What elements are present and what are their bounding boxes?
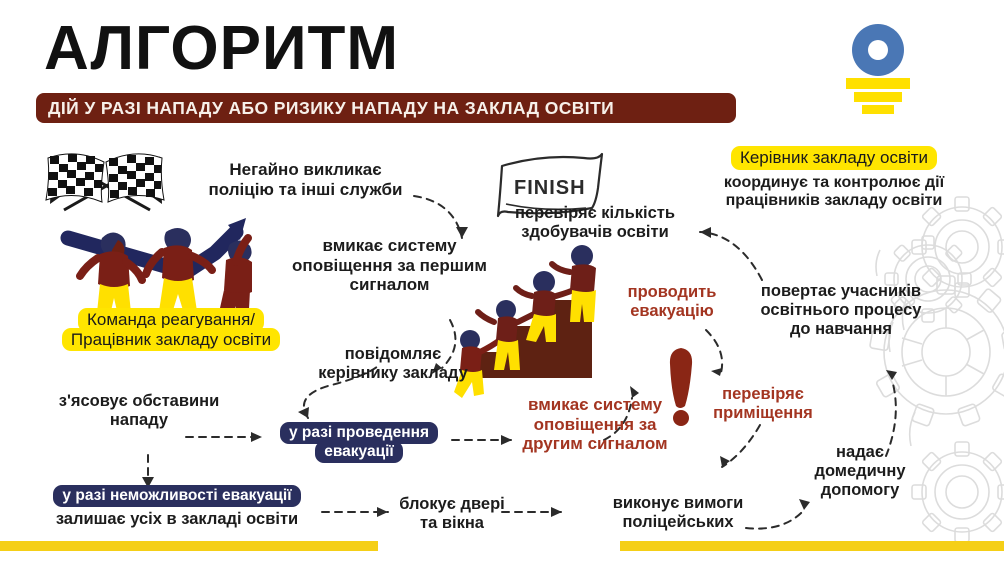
head-desc-line1: координує та контролює дії <box>698 174 970 193</box>
step-first-signal: вмикає систему оповіщення за першим сигн… <box>282 236 497 295</box>
step-call-police: Негайно викликає поліцію та інші служби <box>198 160 413 199</box>
evacuation-case-line2: евакуації <box>315 441 403 463</box>
step-return-participants: повертає учасників освітнього процесу до… <box>748 282 934 339</box>
step-check-premises: перевіряє приміщення <box>705 385 821 423</box>
lightbulb-logo <box>838 24 918 104</box>
actor-head-label: Керівник закладу освіти координує та кон… <box>698 146 970 211</box>
step-inform-head: повідомляє керівнику закладу <box>308 345 478 383</box>
head-desc-line2: працівників закладу освіти <box>698 192 970 211</box>
step-block-doors: блокує двері та вікна <box>392 495 512 533</box>
step-first-aid: надає домедичну допомогу <box>798 443 922 500</box>
page-title: АЛГОРИТМ <box>44 18 399 80</box>
step-evacuation-case: у разі проведення евакуації <box>264 422 454 463</box>
svg-text:FINISH: FINISH <box>514 177 586 199</box>
infographic-canvas: АЛГОРИТМ ДІЙ У РАЗІ НАПАДУ АБО РИЗИКУ НА… <box>0 0 1004 565</box>
step-police-demands: виконує вимоги поліцейських <box>596 494 760 532</box>
step-conduct-evacuation: проводить евакуацію <box>620 283 724 321</box>
step-check-count: перевіряє кількість здобувачів освіти <box>492 204 698 242</box>
step-no-evacuation-case: у разі неможливості евакуації залишає ус… <box>22 485 332 529</box>
step-second-signal: вмикає систему оповіщення за другим сигн… <box>510 395 680 454</box>
arrow-check-premises-to-demands <box>722 425 760 467</box>
logo-bar-1 <box>846 78 910 89</box>
step-clarify-circumstances: з'ясовує обставини нападу <box>44 392 234 430</box>
logo-ring-hole <box>868 40 888 60</box>
bottom-bar-right <box>620 541 1004 551</box>
checkered-flags-icon <box>46 154 164 210</box>
arrowheads <box>142 227 897 517</box>
arrow-police-to-first-signal <box>414 196 462 238</box>
team-label-line2: Працівник закладу освіти <box>62 328 280 352</box>
actor-team-label: Команда реагування/ Працівник закладу ос… <box>46 308 296 351</box>
arrow-return-to-check-count <box>700 232 762 280</box>
logo-bar-3 <box>862 105 894 114</box>
flow-arrows <box>148 196 896 529</box>
arrow-conduct-to-check-premises <box>706 330 722 376</box>
subtitle-banner: ДІЙ У РАЗІ НАПАДУ АБО РИЗИКУ НАПАДУ НА З… <box>36 93 736 123</box>
head-label-text: Керівник закладу освіти <box>731 146 937 170</box>
bottom-bar-left <box>0 541 378 551</box>
subtitle-text: ДІЙ У РАЗІ НАПАДУ АБО РИЗИКУ НАПАДУ НА З… <box>36 98 614 119</box>
logo-bar-2 <box>854 92 902 102</box>
step-keep-inside: залишає усіх в закладі освіти <box>22 510 332 529</box>
no-evacuation-label: у разі неможливості евакуації <box>53 485 300 507</box>
